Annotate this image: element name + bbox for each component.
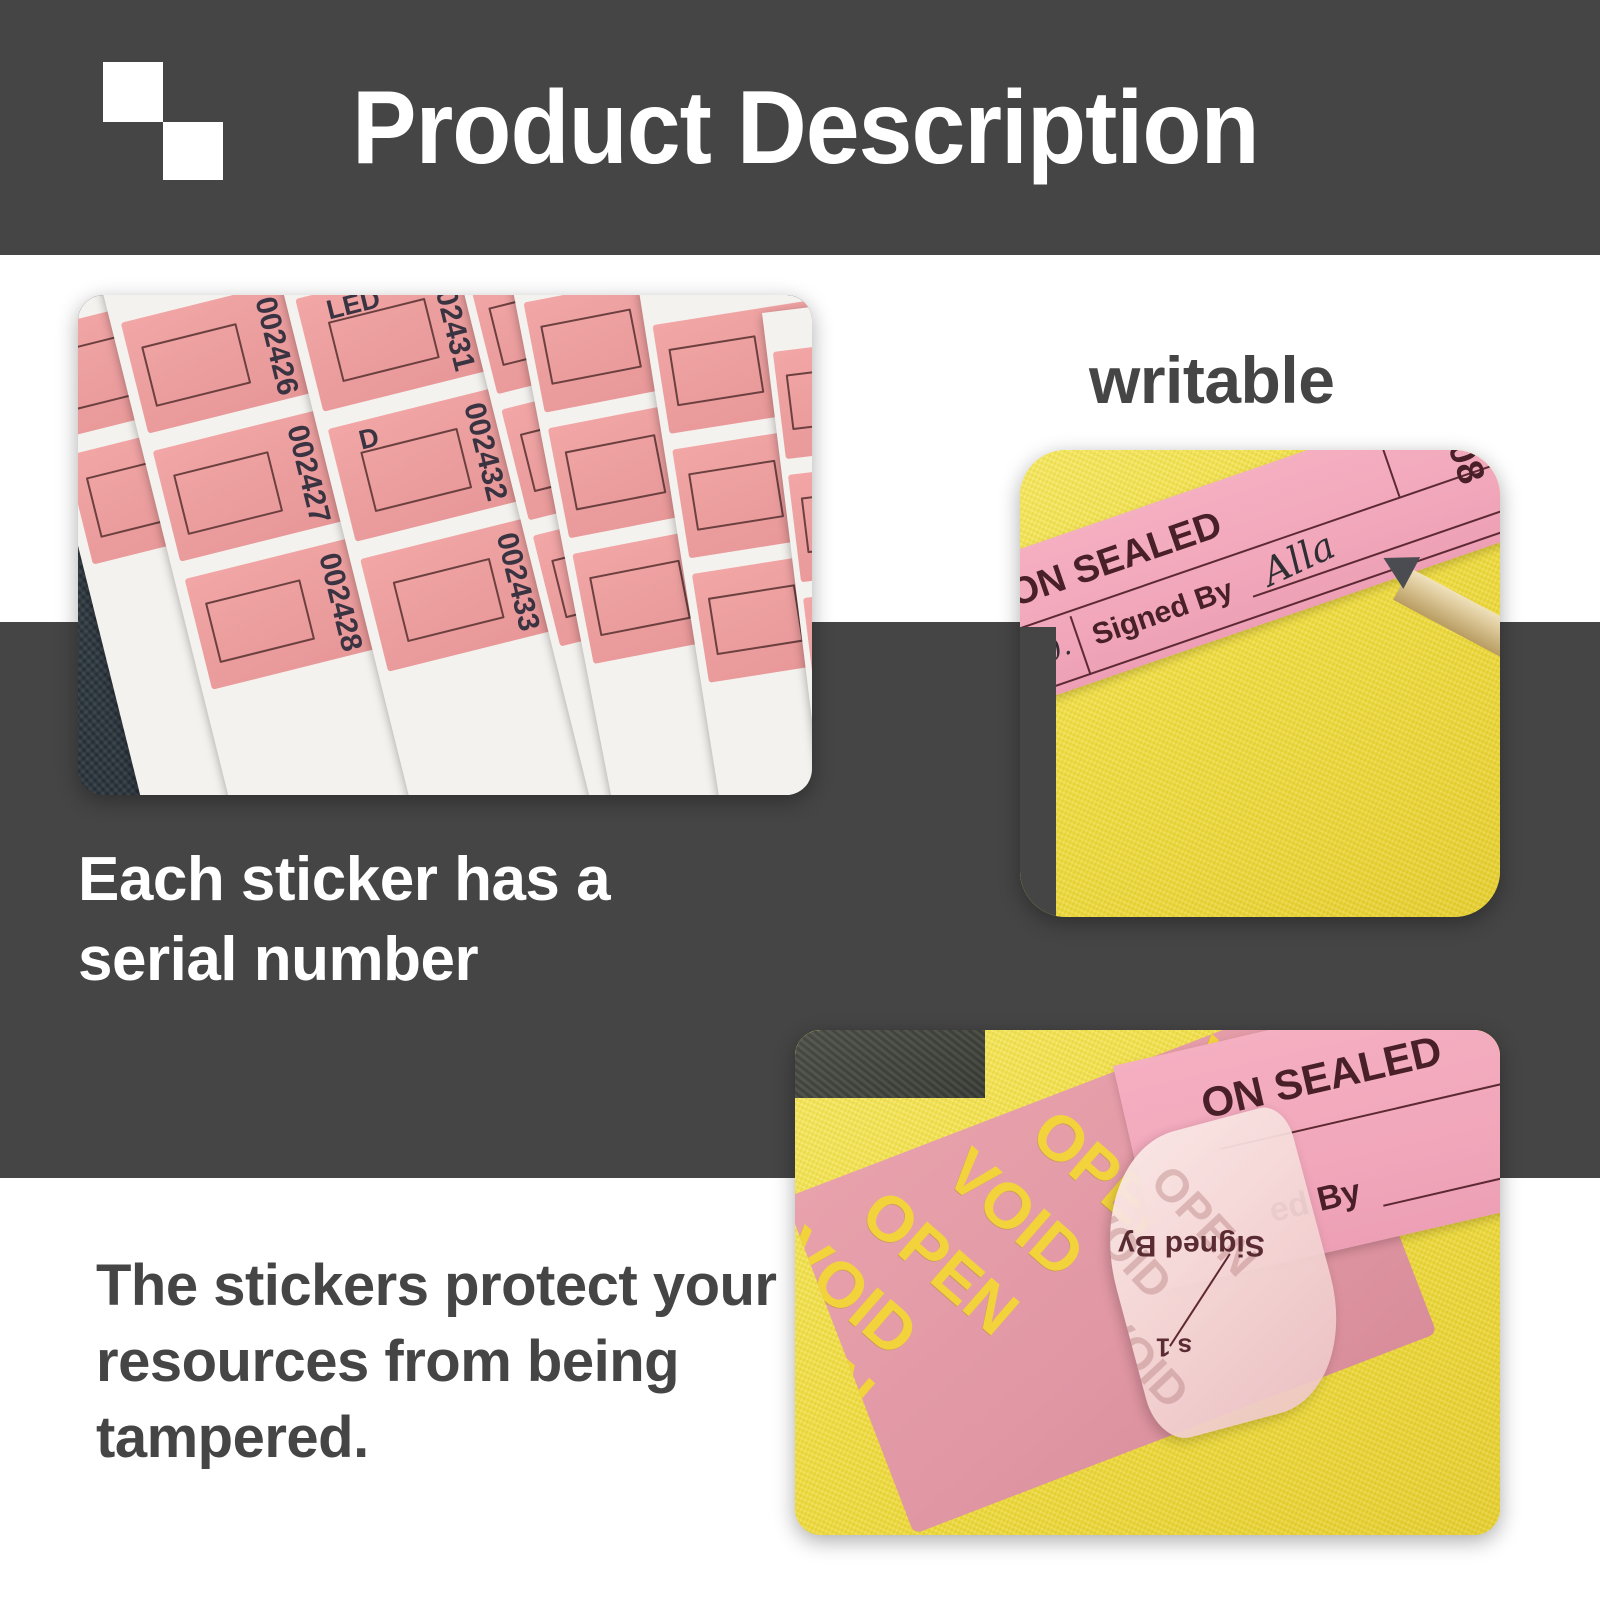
write-box [786,364,812,430]
write-box [565,434,667,510]
logo-square-top-left [103,62,163,122]
tamper-protection-caption: The stickers protect your resources from… [96,1248,816,1476]
two-squares-logo-icon [103,62,220,180]
infographic-page: Product Description 002412 002413 002426 [0,0,1600,1600]
write-box [708,584,804,655]
write-box [589,560,691,636]
band-overlap-notch [1020,627,1056,917]
logo-square-bottom-right [163,122,223,180]
writable-label-photo: NTION SEALED Signed By Alla 26.10. 2408 [1020,450,1500,917]
write-box [801,487,812,553]
write-box [540,308,642,384]
signature-line [1383,1151,1500,1206]
signature-value: Alla [1255,523,1341,594]
sticker-sheets-photo: 002412 002413 002426 002427 002428 [78,295,812,795]
write-box [173,451,283,535]
page-header: Product Description [0,0,1600,255]
page-title: Product Description [352,63,1375,193]
void-tamper-photo: VOID OPEN VOID OPEN VOID OPEN VOID ON SE… [795,1030,1500,1535]
writable-caption: writable [1089,340,1509,420]
write-box [205,579,315,663]
sticker-label: 002451 [773,332,812,459]
reverse-signed-by-text: Signed By [1118,1228,1265,1262]
leather-corner [795,1030,985,1098]
write-box [668,335,764,406]
label-heading: ON SEALED [1197,1030,1447,1128]
serial-box-left [1377,450,1400,497]
write-box [393,558,505,642]
write-box [141,323,251,407]
write-box [688,460,784,531]
label-divider [1070,616,1092,675]
serial-number-caption: Each sticker has a serial number [78,840,778,1000]
